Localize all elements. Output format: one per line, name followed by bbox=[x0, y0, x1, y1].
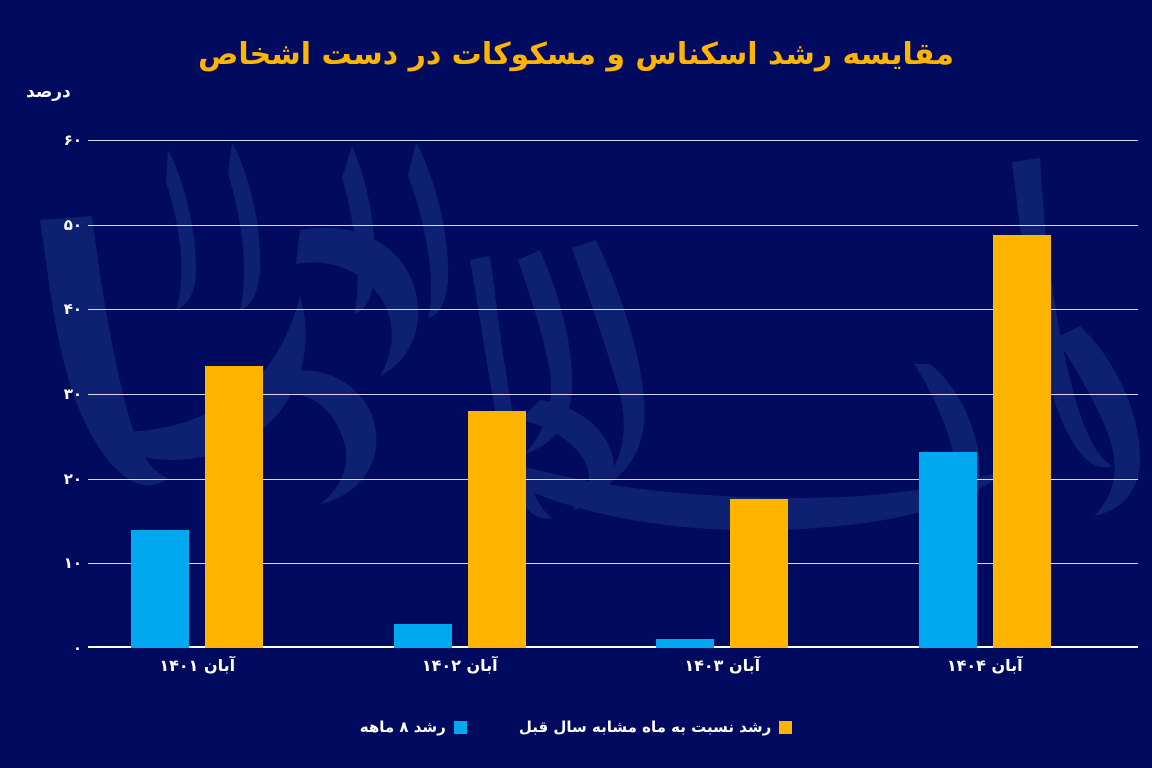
y-axis-tick-label: ۳۰ bbox=[36, 385, 82, 403]
bar-yoy-growth bbox=[468, 411, 526, 648]
bars-layer bbox=[88, 140, 1138, 648]
y-axis-tick-label: ۴۰ bbox=[36, 300, 82, 318]
y-axis-tick-labels: ۰۱۰۲۰۳۰۴۰۵۰۶۰ bbox=[36, 140, 82, 648]
chart-legend: رشد نسبت به ماه مشابه سال قبلرشد ۸ ماهه bbox=[0, 718, 1152, 736]
x-axis-category-label: آبان ۱۴۰۲ bbox=[364, 656, 556, 675]
legend-label: رشد نسبت به ماه مشابه سال قبل bbox=[519, 718, 771, 736]
legend-item[interactable]: رشد نسبت به ماه مشابه سال قبل bbox=[519, 718, 792, 736]
bar-yoy-growth bbox=[730, 499, 788, 648]
legend-swatch-icon bbox=[779, 721, 792, 734]
y-axis-tick-label: ۱۰ bbox=[36, 554, 82, 572]
x-axis-category-label: آبان ۱۴۰۴ bbox=[889, 656, 1081, 675]
x-axis-category-label: آبان ۱۴۰۳ bbox=[626, 656, 818, 675]
legend-label: رشد ۸ ماهه bbox=[360, 718, 446, 736]
y-axis-tick-label: ۲۰ bbox=[36, 470, 82, 488]
chart-title: مقایسه رشد اسکناس و مسکوکات در دست اشخاص bbox=[0, 34, 1152, 77]
bar-eight-month-growth bbox=[919, 452, 977, 648]
bar-yoy-growth bbox=[993, 235, 1051, 648]
y-axis-tick-label: ۰ bbox=[36, 639, 82, 657]
bar-eight-month-growth bbox=[131, 530, 189, 648]
legend-swatch-icon bbox=[454, 721, 467, 734]
bar-eight-month-growth bbox=[656, 639, 714, 648]
bar-yoy-growth bbox=[205, 366, 263, 648]
x-axis-category-label: آبان ۱۴۰۱ bbox=[101, 656, 293, 675]
y-axis-tick-label: ۵۰ bbox=[36, 216, 82, 234]
legend-item[interactable]: رشد ۸ ماهه bbox=[360, 718, 467, 736]
y-axis-tick-label: ۶۰ bbox=[36, 131, 82, 149]
y-axis-unit-label: درصد bbox=[26, 82, 71, 102]
bar-eight-month-growth bbox=[394, 624, 452, 648]
chart-canvas: مقایسه رشد اسکناس و مسکوکات در دست اشخاص… bbox=[0, 0, 1152, 768]
x-axis-category-labels: آبان ۱۴۰۱آبان ۱۴۰۲آبان ۱۴۰۳آبان ۱۴۰۴ bbox=[88, 656, 1138, 690]
